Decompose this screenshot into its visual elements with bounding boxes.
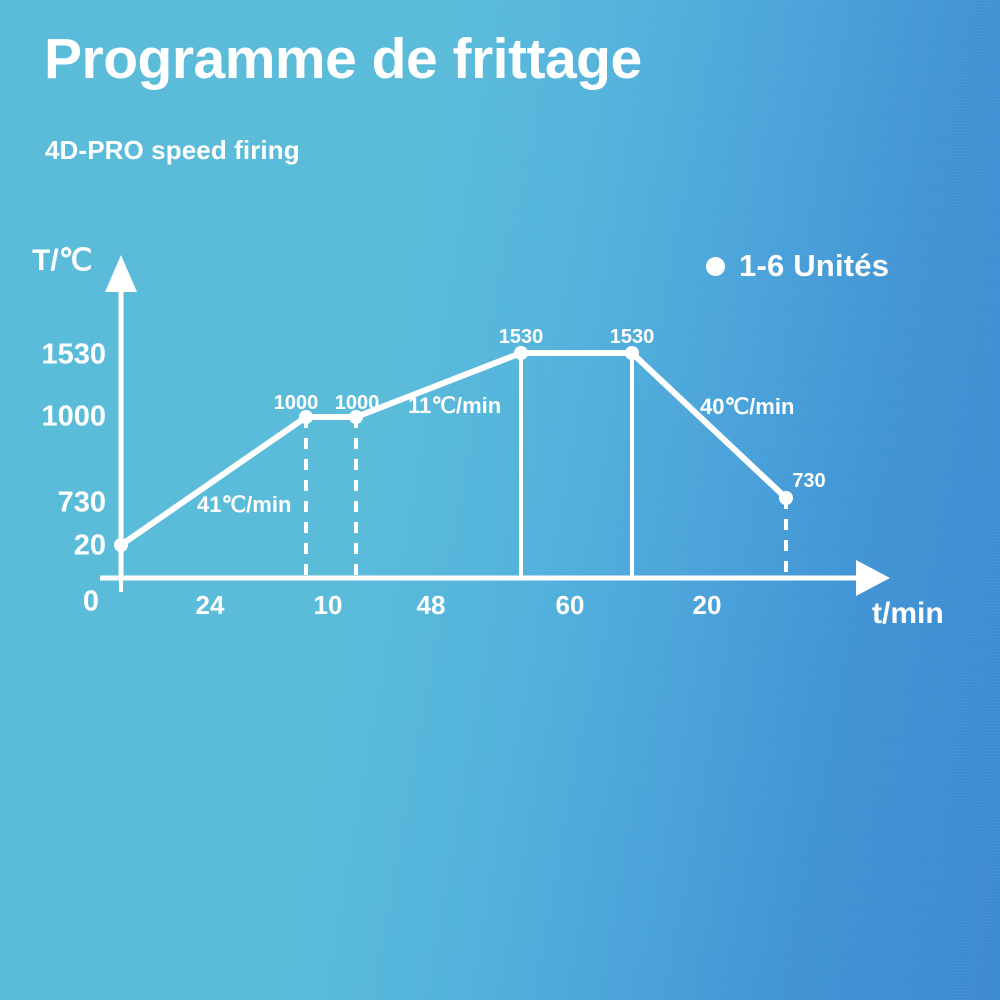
y-axis-arrow-icon bbox=[105, 255, 137, 292]
rate-label-cooling-40: 40℃/min bbox=[700, 394, 794, 420]
x-segment-label-20: 20 bbox=[693, 590, 722, 621]
x-segment-label-24: 24 bbox=[196, 590, 225, 621]
sintering-curve-chart: T/℃ 1530 1000 730 20 0 24 10 48 60 20 t/… bbox=[0, 0, 1000, 1000]
point-label-1530-end: 1530 bbox=[610, 326, 655, 349]
x-segment-label-60: 60 bbox=[556, 590, 585, 621]
sintering-program-infographic: Programme de frittage 4D-PRO speed firin… bbox=[0, 0, 1000, 1000]
chart-svg bbox=[0, 0, 1000, 1000]
x-axis-arrow-icon bbox=[856, 560, 890, 596]
y-tick-0: 0 bbox=[31, 586, 99, 619]
point-label-730: 730 bbox=[792, 470, 825, 493]
data-point-730 bbox=[779, 491, 793, 505]
x-segment-label-48: 48 bbox=[417, 590, 446, 621]
point-label-1000-end: 1000 bbox=[335, 392, 380, 415]
x-segment-label-10: 10 bbox=[314, 590, 343, 621]
point-label-1000-start: 1000 bbox=[274, 392, 319, 415]
point-label-1530-start: 1530 bbox=[499, 326, 544, 349]
rate-label-heating-11: 11℃/min bbox=[408, 393, 501, 419]
rate-label-heating-41: 41℃/min bbox=[197, 492, 291, 518]
y-tick-1000: 1000 bbox=[31, 401, 106, 434]
y-tick-730: 730 bbox=[31, 487, 106, 520]
y-tick-20: 20 bbox=[31, 530, 106, 563]
y-tick-1530: 1530 bbox=[31, 339, 106, 372]
y-axis-title: T/℃ bbox=[32, 243, 92, 278]
x-axis-title: t/min bbox=[872, 597, 944, 631]
data-point-20 bbox=[114, 538, 128, 552]
